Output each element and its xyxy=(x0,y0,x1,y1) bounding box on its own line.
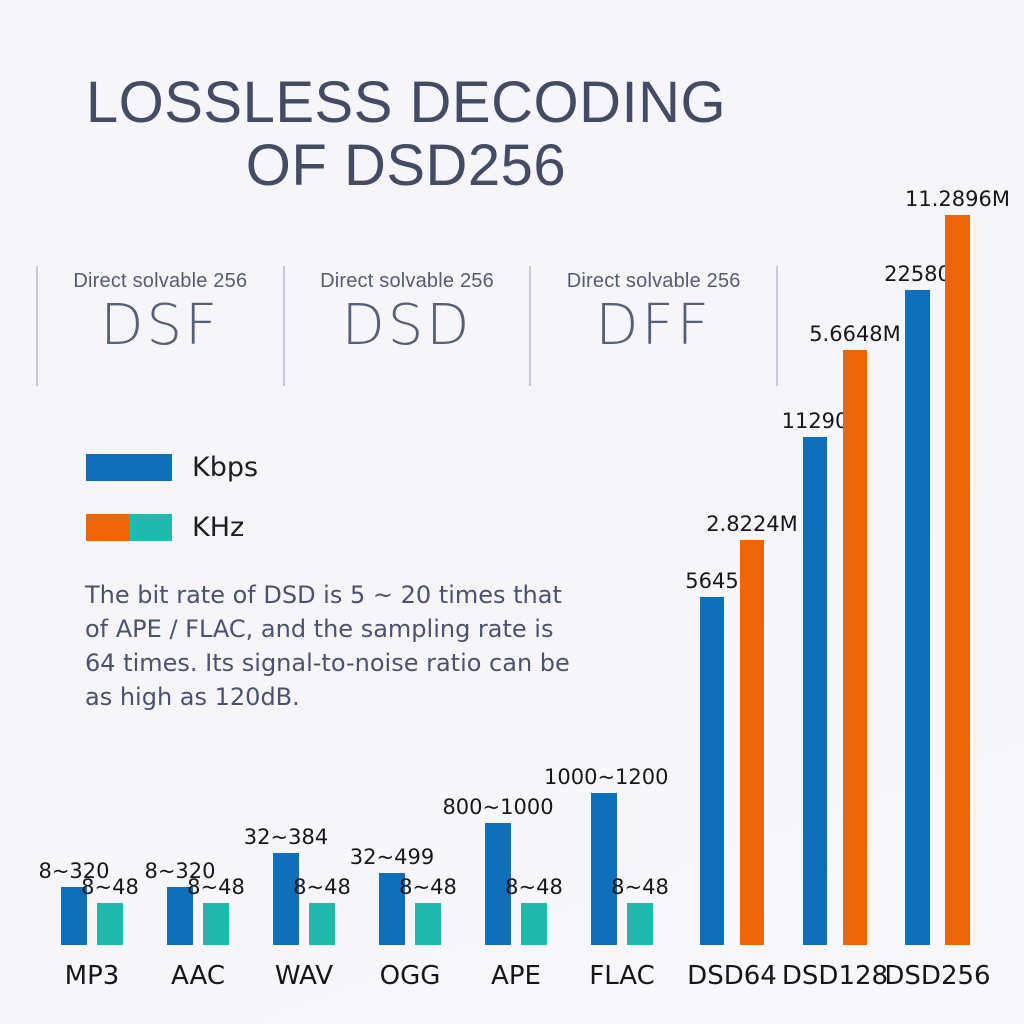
bar-khz-wav xyxy=(309,903,335,945)
bar-value-khz-dsd64: 2.8224M xyxy=(692,512,812,536)
bar-value-khz-dsd256: 11.2896M xyxy=(898,187,1018,211)
bar-khz-mp3 xyxy=(97,903,123,945)
bar-khz-dsd64 xyxy=(740,540,764,945)
bar-kbps-dsd256 xyxy=(905,290,930,945)
bar-kbps-dsd128 xyxy=(803,437,827,945)
bar-value-khz-dsd128: 5.6648M xyxy=(795,322,915,346)
bar-value-kbps-flac: 1000~1200 xyxy=(544,765,664,789)
bar-khz-dsd128 xyxy=(843,350,867,945)
bar-value-kbps-ape: 800~1000 xyxy=(438,795,558,819)
bar-value-kbps-ogg: 32~499 xyxy=(332,845,452,869)
bar-value-khz-wav: 8~48 xyxy=(262,875,382,899)
bar-khz-dsd256 xyxy=(945,215,970,945)
category-label-dsd256: DSD256 xyxy=(868,961,1008,991)
bar-khz-flac xyxy=(627,903,653,945)
bar-value-khz-flac: 8~48 xyxy=(580,875,700,899)
bar-chart: 8~3208~48MP38~3208~48AAC32~3848~48WAV32~… xyxy=(0,0,1024,1024)
bar-value-khz-ape: 8~48 xyxy=(474,875,594,899)
bar-khz-ape xyxy=(521,903,547,945)
bar-khz-ogg xyxy=(415,903,441,945)
bar-khz-aac xyxy=(203,903,229,945)
bar-kbps-wav xyxy=(273,853,299,945)
bar-value-khz-ogg: 8~48 xyxy=(368,875,488,899)
bar-value-khz-aac: 8~48 xyxy=(156,875,276,899)
bar-kbps-dsd64 xyxy=(700,597,724,945)
bar-value-kbps-wav: 32~384 xyxy=(226,825,346,849)
bar-kbps-flac xyxy=(591,793,617,945)
